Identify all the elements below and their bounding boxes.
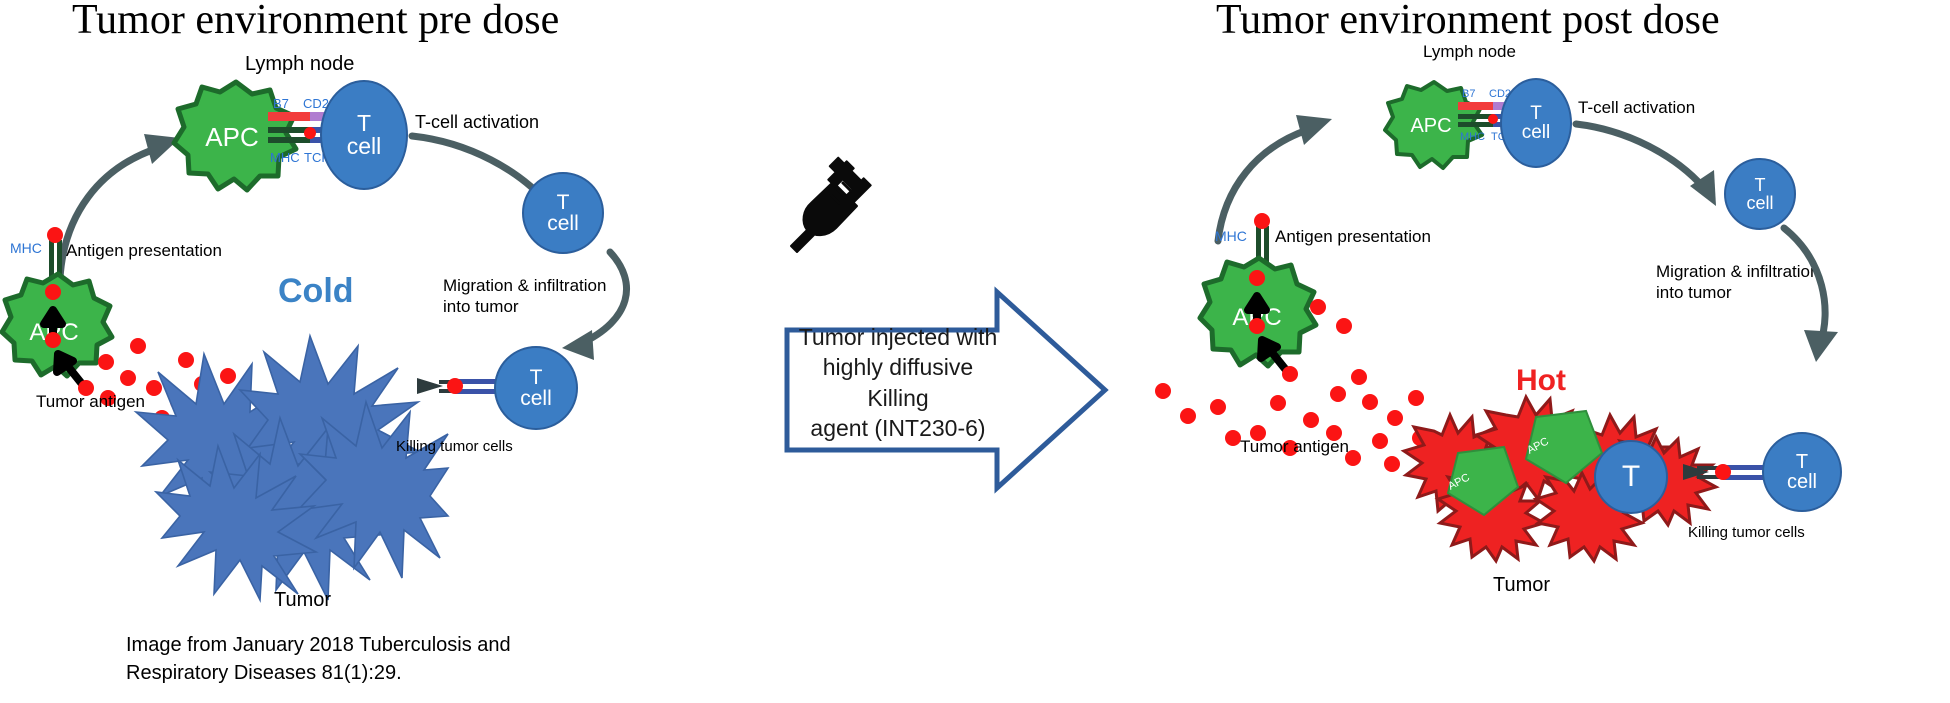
right-lymph-tcell: T cell	[1500, 78, 1572, 168]
citation: Image from January 2018 Tuberculosis and…	[126, 631, 511, 688]
right-activation-arrow	[1572, 118, 1732, 218]
right-effector-tcell-line2: cell	[1787, 472, 1817, 492]
cold-tumor-mass	[118, 320, 448, 600]
right-killing-synapse	[1683, 456, 1769, 490]
left-circulating-tcell-line1: T	[557, 192, 570, 213]
cold-status-word: Cold	[278, 272, 354, 311]
right-effector-tcell: T cell	[1762, 432, 1842, 512]
left-lymph-tcell-line1: T	[357, 112, 371, 135]
right-tcell-activation-label: T-cell activation	[1578, 98, 1695, 119]
right-effector-tcell-line1: T	[1796, 452, 1808, 472]
citation-line2: Respiratory Diseases 81(1):29.	[126, 659, 511, 687]
left-b7-label: B7	[273, 96, 289, 111]
antigen-dot	[1336, 318, 1352, 334]
right-antigen-presentation-label: Antigen presentation	[1275, 227, 1431, 248]
left-lymph-tcell-line2: cell	[347, 135, 382, 158]
left-lymph-tcell: T cell	[320, 80, 408, 190]
left-antigen-presentation-label: Antigen presentation	[66, 241, 222, 262]
left-effector-tcell-line1: T	[530, 367, 543, 388]
right-lower-mhc-label: MHC	[1215, 228, 1247, 244]
antigen-dot	[1351, 369, 1367, 385]
diagram-canvas: Tumor environment pre dose Lymph node AP…	[0, 0, 1950, 703]
antigen-dot	[1310, 299, 1326, 315]
antigen-dot	[1372, 433, 1388, 449]
hot-tumor-mass	[1396, 395, 1716, 560]
right-circulating-tcell: T cell	[1724, 158, 1796, 230]
left-killing-synapse	[417, 370, 503, 404]
right-tumor-antigen-label: Tumor antigen	[1240, 437, 1349, 458]
antigen-dot	[1225, 430, 1241, 446]
right-lymph-node-label: Lymph node	[1423, 42, 1516, 63]
right-infiltrating-tcell: T	[1594, 440, 1668, 514]
antigen-dot	[1155, 383, 1171, 399]
right-lymph-tcell-line1: T	[1530, 104, 1542, 123]
antigen-dot	[1210, 399, 1226, 415]
right-panel-title: Tumor environment post dose	[1216, 0, 1720, 44]
antigen-dot	[1180, 408, 1196, 424]
left-tumor-label: Tumor	[274, 588, 331, 612]
right-lymph-tcell-line2: cell	[1522, 123, 1551, 142]
right-killing-label: Killing tumor cells	[1688, 524, 1805, 542]
antigen-dot	[1303, 412, 1319, 428]
right-tumor-label: Tumor	[1493, 573, 1550, 597]
antigen-dot	[1270, 395, 1286, 411]
left-panel-title: Tumor environment pre dose	[72, 0, 559, 44]
citation-line1: Image from January 2018 Tuberculosis and	[126, 631, 511, 659]
left-effector-tcell-line2: cell	[520, 388, 552, 409]
hot-status-word: Hot	[1516, 364, 1566, 398]
left-lymph-node-label: Lymph node	[245, 52, 354, 76]
antigen-dot	[1330, 386, 1346, 402]
right-migration-arrow	[1780, 226, 1890, 366]
right-circulating-tcell-line2: cell	[1746, 194, 1773, 212]
right-b7-label: B7	[1462, 88, 1475, 100]
center-arrow-text: Tumor injected with highly diffusive Kil…	[793, 322, 1003, 443]
left-migration-arrow	[540, 248, 650, 368]
left-circulating-tcell: T cell	[522, 172, 604, 254]
antigen-dot	[1362, 394, 1378, 410]
right-infiltrating-tcell-label: T	[1622, 462, 1640, 493]
left-circulating-tcell-line2: cell	[547, 213, 579, 234]
right-circulating-tcell-line1: T	[1755, 176, 1766, 194]
antigen-dot	[98, 354, 114, 370]
left-mhc-label: MHC	[270, 150, 300, 165]
left-lower-mhc-label: MHC	[10, 240, 42, 256]
left-effector-tcell: T cell	[494, 346, 578, 430]
syringe-icon	[781, 158, 881, 254]
left-killing-label: Killing tumor cells	[396, 438, 513, 456]
